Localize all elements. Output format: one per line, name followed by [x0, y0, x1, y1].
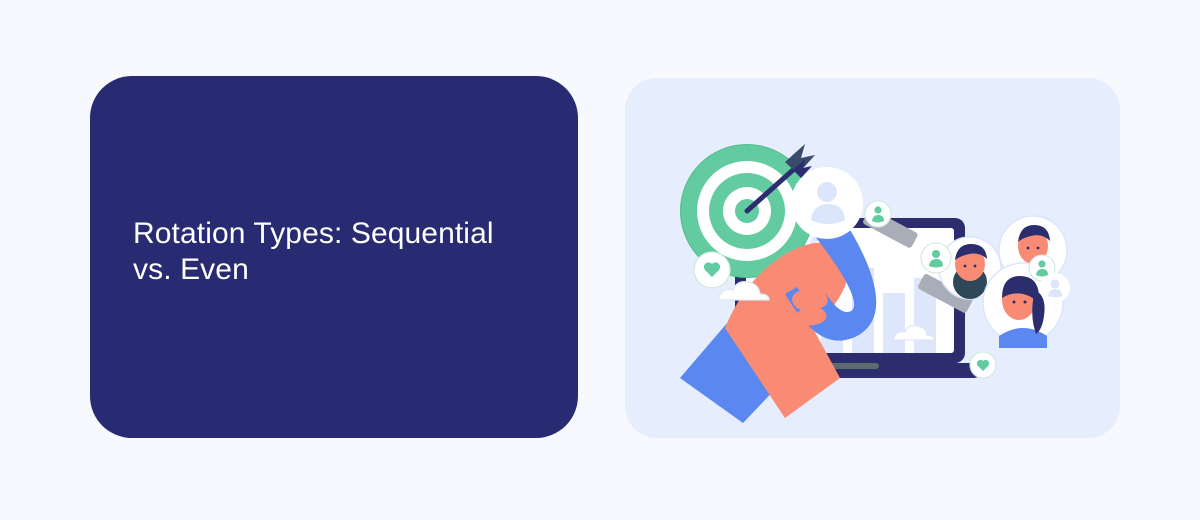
badge-person-small-b — [921, 243, 951, 273]
marketing-illustration — [625, 78, 1120, 438]
page-title: Rotation Types: Sequential vs. Even — [133, 216, 533, 288]
title-card: Rotation Types: Sequential vs. Even — [90, 76, 578, 438]
badge-heart-bottom — [970, 352, 996, 378]
illustration-card — [625, 78, 1120, 438]
badge-person-small-a — [865, 201, 891, 227]
badge-person-large — [791, 167, 863, 239]
badge-heart-left — [694, 252, 730, 288]
page-canvas: Rotation Types: Sequential vs. Even — [0, 0, 1200, 520]
badge-person-right — [1040, 273, 1070, 303]
